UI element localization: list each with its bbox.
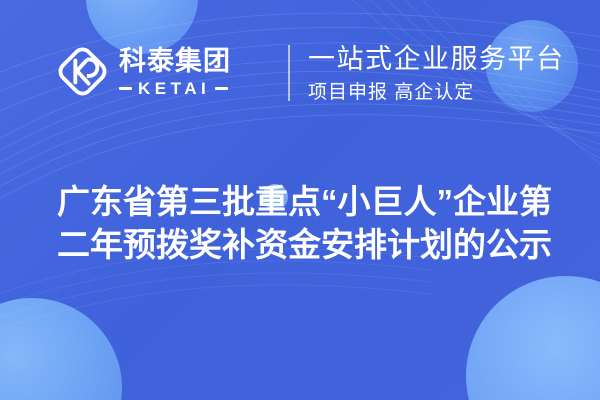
- header-divider: [288, 45, 290, 101]
- logo-wordmark: 科泰集团 KETAI: [119, 46, 231, 98]
- logo-chinese-name: 科泰集团: [119, 46, 231, 76]
- announcement-banner: 科泰集团 KETAI 一站式企业服务平台 项目申报 高企认定 广东省第三批重点“…: [0, 0, 600, 400]
- tagline-primary: 一站式企业服务平台: [308, 42, 565, 76]
- logo-dash-right: [215, 87, 228, 90]
- tagline-block: 一站式企业服务平台 项目申报 高企认定: [308, 42, 565, 106]
- ketai-diamond-logo-icon: [55, 44, 110, 99]
- decorative-circle-bottom-right: [466, 276, 600, 400]
- logo-latin-name: KETAI: [138, 80, 210, 98]
- decorative-circle-bottom-left: [0, 298, 122, 400]
- banner-header: 科泰集团 KETAI 一站式企业服务平台 项目申报 高企认定: [0, 0, 600, 140]
- company-logo[interactable]: 科泰集团 KETAI: [55, 44, 231, 99]
- page-title: 广东省第三批重点“小巨人”企业第二年预拨奖补资金安排计划的公示: [57, 180, 557, 266]
- logo-dash-left: [119, 87, 132, 90]
- logo-latin-row: KETAI: [119, 80, 231, 98]
- tagline-secondary: 项目申报 高企认定: [308, 80, 565, 106]
